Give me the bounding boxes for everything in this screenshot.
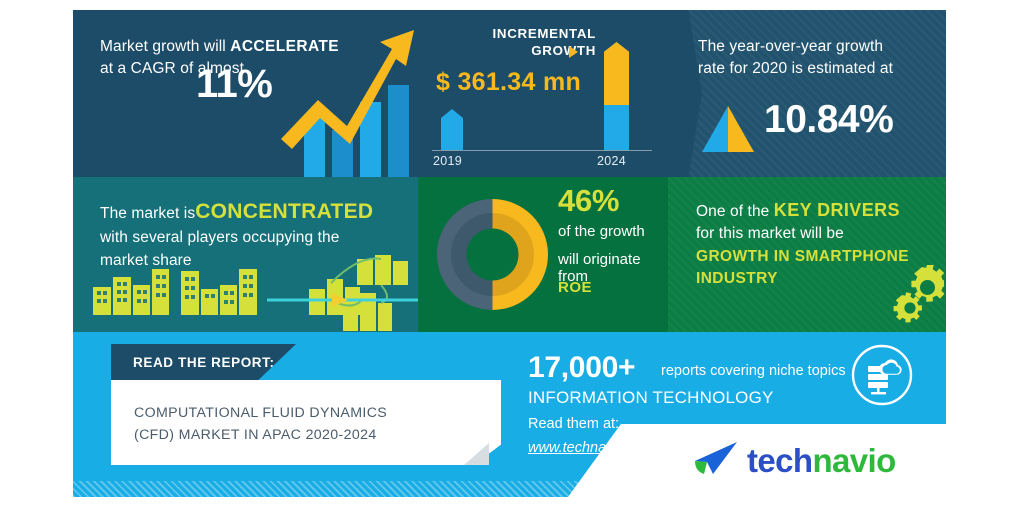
gears-icon <box>886 265 944 323</box>
bar-2024 <box>604 42 629 150</box>
report-category: INFORMATION TECHNOLOGY <box>528 388 774 408</box>
read-them-at-label: Read them at: <box>528 416 619 432</box>
bar-2024-increment <box>604 42 629 105</box>
yoy-line2: rate for 2020 is estimated at <box>698 60 893 77</box>
drivers-line4: INDUSTRY <box>696 270 778 287</box>
drivers-line2: for this market will be <box>696 225 844 242</box>
panel-key-drivers: One of the KEY DRIVERS for this market w… <box>668 177 946 332</box>
bar-2019 <box>441 109 463 150</box>
caret-right-icon <box>569 46 578 58</box>
cagr-line1-bold: ACCELERATE <box>230 38 339 55</box>
panel-market-growth-cagr: Market growth will ACCELERATE at a CAGR … <box>73 10 418 177</box>
concentration-line1-prefix: The market is <box>100 205 195 222</box>
drivers-line3: GROWTH IN SMARTPHONE <box>696 248 909 265</box>
panel-market-concentration: The market isCONCENTRATED with several p… <box>73 177 418 332</box>
technavio-wordmark: technavio <box>747 442 896 480</box>
technavio-mark-icon <box>691 440 741 484</box>
concentration-line2: with several players occupying the <box>100 229 339 246</box>
bar-label-2019: 2019 <box>433 154 462 168</box>
reports-count: 17,000+ <box>528 351 635 385</box>
incremental-title-line2: GROWTH <box>531 43 596 58</box>
report-title-card[interactable]: COMPUTATIONAL FLUID DYNAMICS (CFD) MARKE… <box>111 380 501 465</box>
yoy-value: 10.84% <box>764 98 893 142</box>
footer-stripe-band <box>73 481 946 497</box>
row-middle: The market isCONCENTRATED with several p… <box>73 177 946 332</box>
roe-line1: of the growth <box>558 223 645 240</box>
report-title-line1: COMPUTATIONAL FLUID DYNAMICS <box>134 405 387 421</box>
cagr-line1-prefix: Market growth will <box>100 38 230 55</box>
bar-chart-axis <box>432 150 652 151</box>
row-top: Market growth will ACCELERATE at a CAGR … <box>73 10 946 177</box>
roe-value: 46% <box>558 183 619 219</box>
yoy-description: The year-over-year growth rate for 2020 … <box>698 36 938 81</box>
panel-roe-growth-origin: 46% of the growth will originate from RO… <box>418 177 668 332</box>
incremental-title-line1: INCREMENTAL <box>493 26 596 41</box>
report-title-line2: (CFD) MARKET IN APAC 2020-2024 <box>134 427 377 443</box>
brand-first: tech <box>747 442 812 479</box>
infographic-frame: Market growth will ACCELERATE at a CAGR … <box>73 10 946 497</box>
roe-donut-chart <box>435 197 550 312</box>
bar-label-2024: 2024 <box>597 154 626 168</box>
technavio-logo: technavio <box>691 440 931 486</box>
infographic-canvas: Market growth will ACCELERATE at a CAGR … <box>0 0 1024 512</box>
drivers-line1-bold: KEY DRIVERS <box>774 200 900 220</box>
cagr-value: 11% <box>196 62 272 107</box>
drivers-line1-prefix: One of the <box>696 203 774 220</box>
connector-arrow-icon <box>272 292 418 308</box>
cloud-server-icon <box>851 344 913 406</box>
yoy-line1: The year-over-year growth <box>698 38 883 55</box>
panel-incremental-growth: INCREMENTAL GROWTH $ 361.34 mn 2019 2024 <box>418 10 668 177</box>
report-title-text: COMPUTATIONAL FLUID DYNAMICS (CFD) MARKE… <box>134 402 387 446</box>
reports-caption: reports covering niche topics <box>661 363 846 379</box>
row-footer: READ THE REPORT: COMPUTATIONAL FLUID DYN… <box>73 332 946 497</box>
panel-year-over-year-growth: The year-over-year growth rate for 2020 … <box>668 10 946 177</box>
read-the-report-label: READ THE REPORT: <box>133 355 275 370</box>
brand-second: navio <box>812 442 895 479</box>
roe-line3: ROE <box>558 279 592 296</box>
concentration-line1-bold: CONCENTRATED <box>195 200 373 223</box>
incremental-growth-value: $ 361.34 mn <box>436 68 581 97</box>
read-the-report-tab[interactable]: READ THE REPORT: <box>111 344 296 383</box>
growth-triangle-icon <box>702 106 754 152</box>
